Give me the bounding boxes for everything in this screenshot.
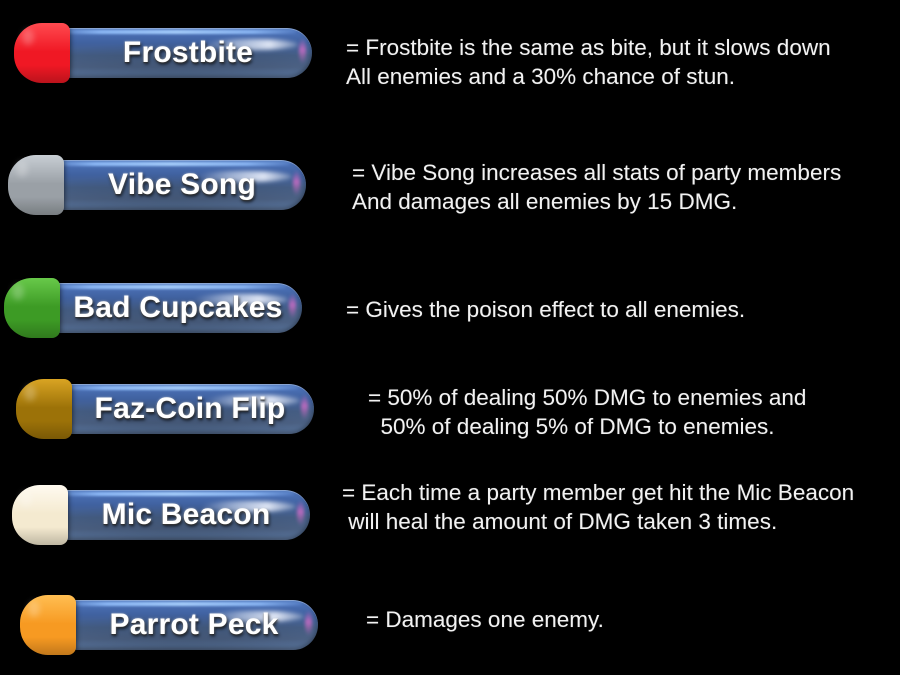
ability-button-body[interactable]: Bad Cupcakes bbox=[32, 283, 302, 333]
ability-list-board: Frostbite= Frostbite is the same as bite… bbox=[0, 0, 900, 675]
ability-button-body[interactable]: Parrot Peck bbox=[48, 600, 318, 650]
ability-button-faz-coin-flip[interactable]: Faz-Coin Flip bbox=[44, 384, 314, 434]
ability-description-line: And damages all enemies by 15 DMG. bbox=[352, 187, 841, 216]
ability-button-label: Frostbite bbox=[42, 28, 312, 78]
ability-description-line: = Frostbite is the same as bite, but it … bbox=[346, 33, 831, 62]
ability-description: = Each time a party member get hit the M… bbox=[342, 478, 854, 536]
ability-button-label: Faz-Coin Flip bbox=[44, 384, 314, 434]
ability-button-body[interactable]: Faz-Coin Flip bbox=[44, 384, 314, 434]
ability-description: = 50% of dealing 50% DMG to enemies and … bbox=[368, 383, 806, 441]
ability-button-vibe-song[interactable]: Vibe Song bbox=[36, 160, 306, 210]
ability-description-line: = Gives the poison effect to all enemies… bbox=[346, 295, 745, 324]
ability-description-line: = Damages one enemy. bbox=[366, 605, 604, 634]
ability-description-line: will heal the amount of DMG taken 3 time… bbox=[342, 507, 854, 536]
ability-button-label: Vibe Song bbox=[36, 160, 306, 210]
ability-button-bad-cupcakes[interactable]: Bad Cupcakes bbox=[32, 283, 302, 333]
ability-button-label: Bad Cupcakes bbox=[32, 283, 302, 333]
ability-description: = Damages one enemy. bbox=[366, 605, 604, 634]
ability-description-line: = Vibe Song increases all stats of party… bbox=[352, 158, 841, 187]
ability-button-label: Parrot Peck bbox=[48, 600, 318, 650]
ability-description-line: = 50% of dealing 50% DMG to enemies and bbox=[368, 383, 806, 412]
ability-button-parrot-peck[interactable]: Parrot Peck bbox=[48, 600, 318, 650]
ability-description: = Vibe Song increases all stats of party… bbox=[352, 158, 841, 216]
ability-description: = Frostbite is the same as bite, but it … bbox=[346, 33, 831, 91]
ability-button-body[interactable]: Mic Beacon bbox=[40, 490, 310, 540]
ability-description: = Gives the poison effect to all enemies… bbox=[346, 295, 745, 324]
ability-button-frostbite[interactable]: Frostbite bbox=[42, 28, 312, 78]
ability-button-mic-beacon[interactable]: Mic Beacon bbox=[40, 490, 310, 540]
ability-button-label: Mic Beacon bbox=[40, 490, 310, 540]
ability-button-body[interactable]: Vibe Song bbox=[36, 160, 306, 210]
ability-description-line: All enemies and a 30% chance of stun. bbox=[346, 62, 831, 91]
ability-description-line: 50% of dealing 5% of DMG to enemies. bbox=[368, 412, 806, 441]
ability-description-line: = Each time a party member get hit the M… bbox=[342, 478, 854, 507]
ability-button-body[interactable]: Frostbite bbox=[42, 28, 312, 78]
